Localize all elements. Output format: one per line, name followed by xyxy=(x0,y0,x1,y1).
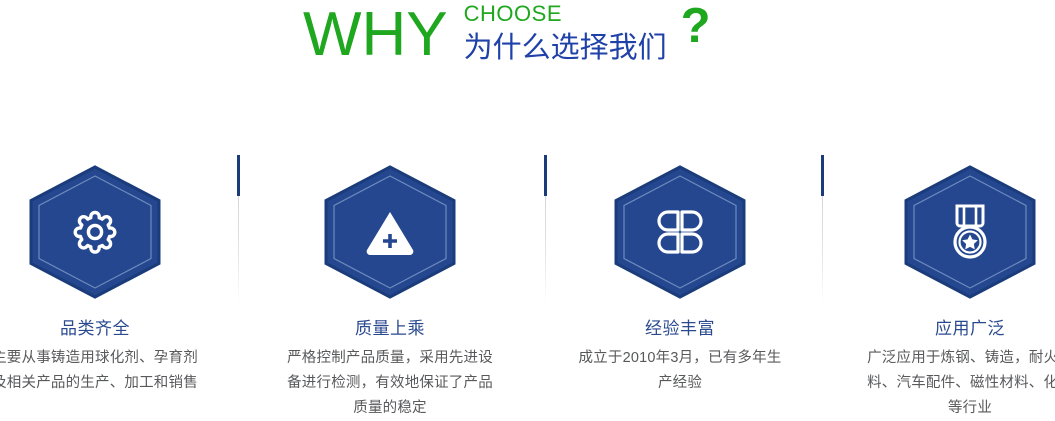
card-description: 主要从事铸造用球化剂、孕育剂及相关产品的生产、加工和销售 xyxy=(0,346,210,396)
section-header: WHY CHOOSE 为什么选择我们 ? xyxy=(0,0,1055,100)
header-question-mark: ? xyxy=(681,0,711,52)
header-choose-word: CHOOSE xyxy=(464,2,667,26)
card-title: 品类齐全 xyxy=(0,319,210,339)
card-title: 经验丰富 xyxy=(565,319,795,339)
hexagon-badge xyxy=(613,165,747,307)
hexagon-badge xyxy=(28,165,162,307)
feature-cards-row: 品类齐全 主要从事铸造用球化剂、孕育剂及相关产品的生产、加工和销售 质量上乘 严… xyxy=(0,155,1055,416)
hexagon-badge xyxy=(323,165,457,307)
feature-card[interactable]: 应用广泛 广泛应用于炼钢、铸造，耐火材料、汽车配件、磁性材料、化工等行业 xyxy=(855,155,1055,421)
header-chinese-title: 为什么选择我们 xyxy=(464,30,667,66)
triangle-plus-icon xyxy=(323,165,457,299)
gear-icon xyxy=(28,165,162,299)
hexagon-badge xyxy=(903,165,1037,307)
card-title: 应用广泛 xyxy=(855,319,1055,339)
feature-card[interactable]: 品类齐全 主要从事铸造用球化剂、孕育剂及相关产品的生产、加工和销售 xyxy=(0,155,210,396)
card-description: 成立于2010年3月，已有多年生产经验 xyxy=(565,346,795,396)
card-title: 质量上乘 xyxy=(275,319,505,339)
medal-icon xyxy=(903,165,1037,299)
header-title-group: WHY CHOOSE 为什么选择我们 ? xyxy=(303,0,711,72)
feature-card[interactable]: 经验丰富 成立于2010年3月，已有多年生产经验 xyxy=(565,155,795,396)
clover-icon xyxy=(613,165,747,299)
feature-card[interactable]: 质量上乘 严格控制产品质量，采用先进设备进行检测，有效地保证了产品质量的稳定 xyxy=(275,155,505,421)
card-description: 广泛应用于炼钢、铸造，耐火材料、汽车配件、磁性材料、化工等行业 xyxy=(855,346,1055,421)
header-text-stack: CHOOSE 为什么选择我们 xyxy=(464,2,667,66)
header-why-word: WHY xyxy=(303,2,448,68)
card-description: 严格控制产品质量，采用先进设备进行检测，有效地保证了产品质量的稳定 xyxy=(275,346,505,421)
